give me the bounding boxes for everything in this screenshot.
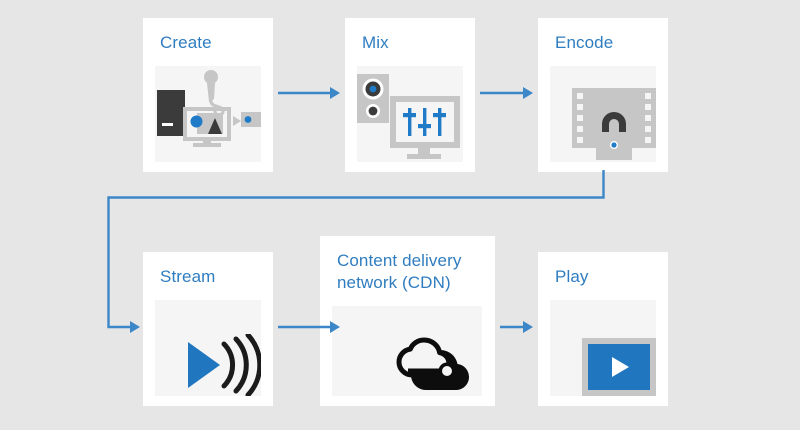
cdn-cloud-icon (394, 334, 482, 396)
media-workflow-diagram: Create Mix (0, 0, 800, 430)
encode-film-lock-icon (572, 84, 656, 162)
play-video-icon (582, 338, 656, 396)
stream-broadcast-icon (182, 334, 261, 396)
mix-speaker-equalizer-icon (357, 70, 463, 162)
step-card-create[interactable]: Create (143, 18, 273, 172)
create-workstation-icon (155, 68, 261, 162)
step-title-encode: Encode (555, 32, 613, 54)
mix-speaker-equalizer-icon (357, 70, 463, 162)
cdn-cloud-icon (394, 334, 482, 396)
elbow-encode-to-stream (100, 170, 620, 340)
stream-broadcast-icon (182, 334, 261, 396)
step-card-mix[interactable]: Mix (345, 18, 475, 172)
step-card-encode[interactable]: Encode (538, 18, 668, 172)
step-icon-panel-mix (357, 66, 463, 162)
step-title-create: Create (160, 32, 212, 54)
play-video-icon (582, 338, 656, 396)
encode-film-lock-icon (572, 84, 656, 162)
create-workstation-icon (155, 68, 261, 162)
step-title-mix: Mix (362, 32, 389, 54)
arrow-mix-to-encode (480, 85, 533, 101)
arrow-create-to-mix (278, 85, 340, 101)
step-icon-panel-create (155, 66, 261, 162)
step-icon-panel-encode (550, 66, 656, 162)
